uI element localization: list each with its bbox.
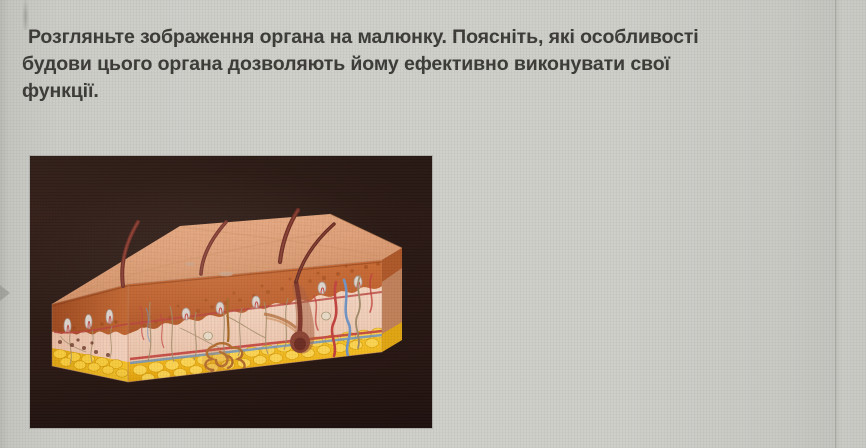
question-line-2: будови цього органа дозволяють йому ефек… [22,51,834,78]
question-line-3: функції. [22,78,834,105]
skin-cross-section-svg [30,156,432,428]
screenshot-canvas: Розгляньте зображення органа на малюнку.… [0,0,866,448]
question-line-1: Розгляньте зображення органа на малюнку.… [22,24,834,51]
skin-right-edge [382,248,402,352]
question-text-block: Розгляньте зображення органа на малюнку.… [22,24,834,105]
skin-diagram-figure [30,156,432,428]
